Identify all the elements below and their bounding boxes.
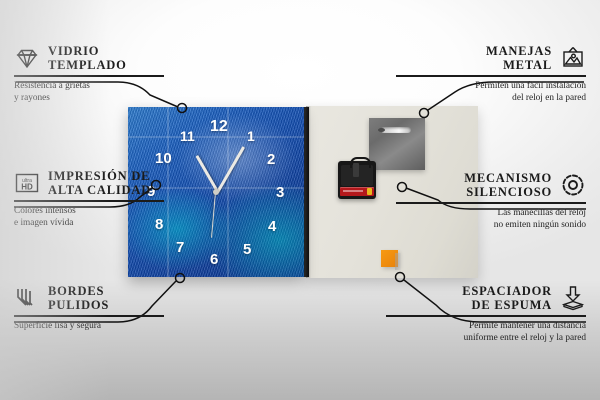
callout-description-line: Permite mantener una distancia — [386, 320, 586, 333]
callout-description-line: Las manecillas del reloj — [396, 207, 586, 220]
callout-title-line: DE ESPUMA — [462, 298, 552, 312]
callout-title-line: ALTA CALIDAD — [48, 183, 151, 197]
callout-header: BORDES PULIDOS — [14, 284, 164, 312]
callout-title-line: BORDES — [48, 284, 109, 298]
battery-tip — [367, 188, 372, 195]
callout-titles: ESPACIADOR DE ESPUMA — [462, 284, 552, 312]
callout-rule — [14, 200, 164, 202]
pattern-grid-line — [128, 136, 304, 138]
battery-stripe — [343, 190, 363, 192]
picture-frame-icon — [560, 45, 586, 71]
callout-description-line: e imagen vívida — [14, 217, 164, 230]
callout-header: VIDRIO TEMPLADO — [14, 44, 164, 72]
callout-description-line: del reloj en la pared — [396, 92, 586, 105]
callout-title-line: IMPRESIÓN DE — [48, 169, 151, 183]
callout-mecanismo-silencioso: MECANISMO SILENCIOSO Las manecillas del … — [396, 171, 586, 232]
battery — [340, 187, 374, 196]
clock-number: 6 — [210, 252, 218, 267]
callout-description-line: uniforme entre el reloj y la pared — [386, 332, 586, 345]
clock-number: 2 — [267, 152, 275, 167]
callout-titles: MANEJAS METAL — [486, 44, 552, 72]
svg-text:HD: HD — [21, 183, 33, 192]
callout-description: Permiten una fácil instalación del reloj… — [396, 80, 586, 105]
callout-header: MECANISMO SILENCIOSO — [396, 171, 586, 199]
foam-spacer — [381, 250, 398, 267]
callout-description: Resistencia a grietas y rayones — [14, 80, 164, 105]
clock-center-pin — [213, 189, 219, 195]
callout-titles: IMPRESIÓN DE ALTA CALIDAD — [48, 169, 151, 197]
pattern-grid-line — [167, 107, 169, 277]
callout-header: ESPACIADOR DE ESPUMA — [386, 284, 586, 312]
callout-rule — [386, 315, 586, 317]
callout-title-line: TEMPLADO — [48, 58, 127, 72]
clock-number: 7 — [176, 240, 184, 255]
mechanism-hook — [350, 157, 371, 168]
product-infographic: 12 1 2 3 4 5 6 7 8 9 10 11 — [0, 0, 600, 400]
foam-spacer-icon — [560, 285, 586, 311]
ultra-hd-icon: ultra HD — [14, 170, 40, 196]
callout-description: Superficie lisa y segura — [14, 320, 164, 333]
clock-number: 1 — [247, 129, 255, 143]
clock-number: 12 — [210, 119, 228, 135]
callout-title-line: ESPACIADOR — [462, 284, 552, 298]
callout-title-line: SILENCIOSO — [464, 185, 552, 199]
callout-manejas-metal: MANEJAS METAL Permiten una fácil instala… — [396, 44, 586, 105]
clock-number: 4 — [268, 219, 276, 234]
hanger-slot — [381, 127, 411, 133]
callout-description-line: Permiten una fácil instalación — [396, 80, 586, 93]
callout-description: Las manecillas del reloj no emiten ningú… — [396, 207, 586, 232]
callout-titles: VIDRIO TEMPLADO — [48, 44, 127, 72]
callout-espaciador-espuma: ESPACIADOR DE ESPUMA Permite mantener un… — [386, 284, 586, 345]
callout-description: Permite mantener una distancia uniforme … — [386, 320, 586, 345]
clock-number: 10 — [155, 151, 172, 166]
callout-rule — [14, 315, 164, 317]
callout-description-line: Colores intensos — [14, 205, 164, 218]
callout-rule — [396, 75, 586, 77]
diamond-icon — [14, 45, 40, 71]
callout-title-line: PULIDOS — [48, 298, 109, 312]
callout-description-line: no emiten ningún sonido — [396, 219, 586, 232]
callout-description-line: Resistencia a grietas — [14, 80, 164, 93]
callout-header: ultra HD IMPRESIÓN DE ALTA CALIDAD — [14, 169, 164, 197]
callout-description: Colores intensos e imagen vívida — [14, 205, 164, 230]
callout-titles: BORDES PULIDOS — [48, 284, 109, 312]
callout-title-line: VIDRIO — [48, 44, 127, 58]
callout-title-line: METAL — [486, 58, 552, 72]
metal-hanger — [369, 118, 425, 170]
callout-description-line: Superficie lisa y segura — [14, 320, 164, 333]
callout-header: MANEJAS METAL — [396, 44, 586, 72]
callout-title-line: MECANISMO — [464, 171, 552, 185]
callout-rule — [396, 202, 586, 204]
callout-titles: MECANISMO SILENCIOSO — [464, 171, 552, 199]
callout-rule — [14, 75, 164, 77]
callout-impresion-alta-calidad: ultra HD IMPRESIÓN DE ALTA CALIDAD Color… — [14, 169, 164, 230]
gear-icon — [560, 172, 586, 198]
clock-number: 5 — [243, 242, 251, 257]
callout-title-line: MANEJAS — [486, 44, 552, 58]
clock-number: 3 — [276, 185, 284, 200]
callout-description-line: y rayones — [14, 92, 164, 105]
callout-bordes-pulidos: BORDES PULIDOS Superficie lisa y segura — [14, 284, 164, 332]
clock-number: 11 — [180, 129, 195, 143]
polished-edges-icon — [14, 285, 40, 311]
callout-vidrio-templado: VIDRIO TEMPLADO Resistencia a grietas y … — [14, 44, 164, 105]
